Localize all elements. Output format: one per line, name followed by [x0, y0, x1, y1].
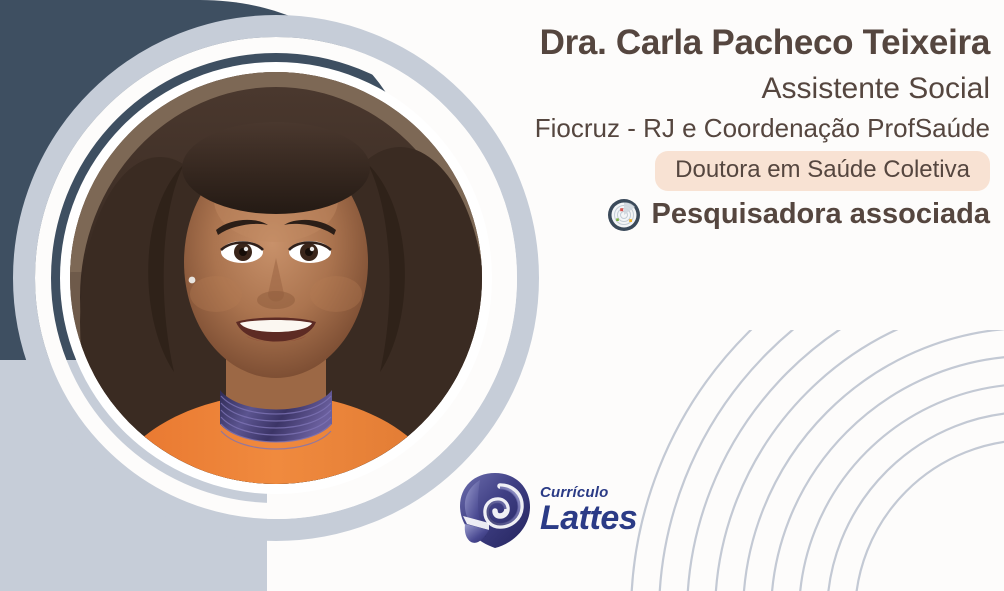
status-badge: Doutora em Saúde Coletiva [655, 151, 990, 191]
lattes-wordmark: Currículo Lattes [540, 485, 637, 535]
lattes-logo[interactable]: Currículo Lattes [456, 470, 637, 550]
profile-text-block: Dra. Carla Pacheco Teixeira Assistente S… [370, 22, 990, 233]
researcher-row: Pesquisadora associada [370, 197, 990, 233]
page-title: Dra. Carla Pacheco Teixeira [370, 22, 990, 63]
researcher-label: Pesquisadora associada [652, 198, 991, 231]
radar-icon [606, 197, 642, 233]
bg-concentric-arcs [631, 216, 1004, 591]
profile-role: Assistente Social [370, 71, 990, 107]
badge-row: Doutora em Saúde Coletiva [370, 151, 990, 191]
lattes-curriculo-text: Currículo [540, 485, 608, 500]
lattes-spiral-icon [456, 470, 534, 550]
profile-affiliation: Fiocruz - RJ e Coordenação ProfSaúde [370, 113, 990, 144]
lattes-lattes-text: Lattes [540, 501, 637, 535]
profile-card: Dra. Carla Pacheco Teixeira Assistente S… [0, 0, 1004, 591]
